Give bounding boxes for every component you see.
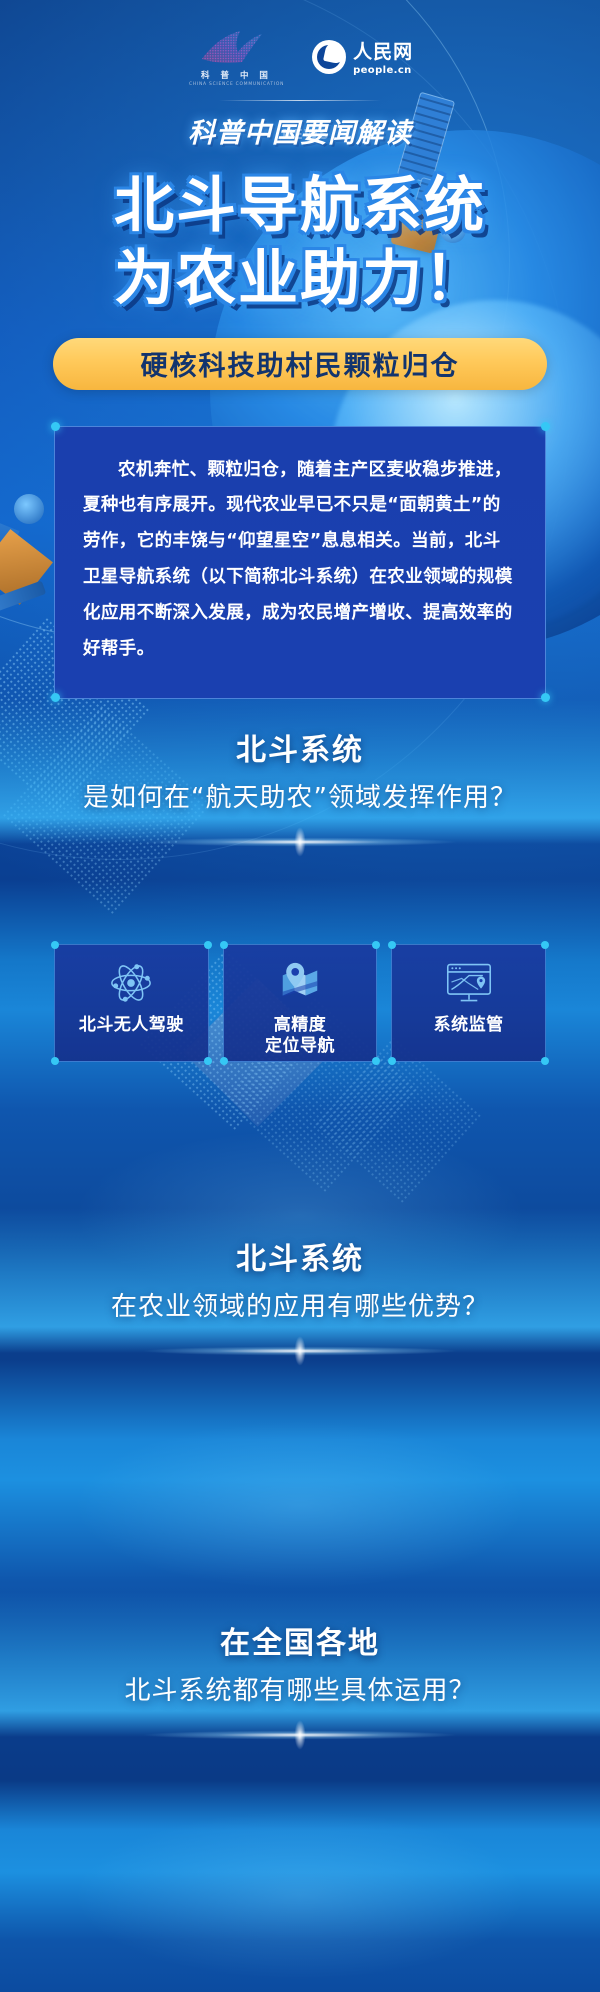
heading-flare-icon: [90, 1345, 510, 1357]
kepu-logo-en-text: CHINA SCIENCE COMMUNICATION: [189, 82, 284, 87]
hero-title-block: 北斗导航系统 为农业助力！ 硬核科技助村民颗粒归仓: [0, 174, 600, 390]
section-heading-3: 在全国各地 北斗系统都有哪些具体运用？: [0, 1592, 600, 1737]
corner-dot-icon: [541, 1057, 549, 1065]
section1-heading: 北斗系统: [0, 725, 600, 769]
section-heading-1: 北斗系统 是如何在“航天助农”领域发挥作用？: [0, 699, 600, 844]
intro-box: 农机奔忙、颗粒归仓，随着主产区麦收稳步推进，夏种也有序展开。现代农业早已不只是“…: [54, 426, 546, 699]
heading-flare-icon: [90, 836, 510, 848]
feature-card-beidou-autopilot[interactable]: 北斗无人驾驶: [54, 944, 209, 1062]
section3-subheading: 北斗系统都有哪些具体运用？: [0, 1670, 600, 1707]
corner-dot-icon: [204, 1057, 212, 1065]
corner-dot-icon: [388, 941, 396, 949]
intro-paragraph: 农机奔忙、颗粒归仓，随着主产区麦收稳步推进，夏种也有序展开。现代农业早已不只是“…: [83, 453, 517, 668]
section3-heading: 在全国各地: [0, 1618, 600, 1662]
section1-subheading: 是如何在“航天助农”领域发挥作用？: [0, 777, 600, 814]
people-cn-zh-text: 人民网: [353, 37, 413, 64]
feature-card-row: 北斗无人驾驶 高精度 定位导航: [54, 944, 546, 1062]
corner-dot-icon: [220, 1057, 228, 1065]
corner-dot-icon: [204, 941, 212, 949]
section-heading-2: 北斗系统 在农业领域的应用有哪些优势？: [0, 1208, 600, 1353]
monitor-map-icon: [445, 959, 493, 1007]
section2-subheading: 在农业领域的应用有哪些优势？: [0, 1286, 600, 1323]
kepu-china-logo: 科 普 中 国 CHINA SCIENCE COMMUNICATION: [187, 26, 286, 87]
corner-dot-icon: [220, 941, 228, 949]
header-divider: [219, 100, 381, 101]
atom-icon: [108, 959, 154, 1007]
kepu-logo-cn-text: 科 普 中 国: [201, 69, 272, 81]
people-cn-logo: 人民网 people.cn: [312, 37, 413, 76]
feature-card-high-precision-nav[interactable]: 高精度 定位导航: [223, 944, 378, 1062]
corner-dot-icon: [51, 1057, 59, 1065]
news-watermark: NEWS: [282, 128, 329, 143]
feature-card-label: 高精度: [274, 1015, 327, 1035]
feature-card-label-2: 定位导航: [265, 1036, 335, 1056]
feature-card-label: 系统监管: [434, 1015, 504, 1035]
corner-dot-icon: [541, 422, 550, 431]
feature-card-system-supervision[interactable]: 系统监管: [391, 944, 546, 1062]
section2-heading: 北斗系统: [0, 1234, 600, 1278]
corner-dot-icon: [51, 941, 59, 949]
subtitle-pill: 硬核科技助村民颗粒归仓: [53, 338, 547, 390]
kepu-wing-icon: [196, 26, 276, 66]
heading-flare-icon: [90, 1729, 510, 1741]
logo-row: 科 普 中 国 CHINA SCIENCE COMMUNICATION 人民网 …: [0, 26, 600, 87]
people-cn-en-text: people.cn: [353, 65, 413, 76]
corner-dot-icon: [541, 941, 549, 949]
page-title-line1: 北斗导航系统: [0, 174, 600, 239]
corner-dot-icon: [51, 422, 60, 431]
feature-card-label: 北斗无人驾驶: [79, 1015, 184, 1035]
map-pin-icon: [277, 959, 323, 1007]
corner-dot-icon: [372, 941, 380, 949]
people-cn-mark-icon: [312, 40, 346, 74]
page-title-line2: 为农业助力！: [0, 247, 600, 312]
page-header: 科 普 中 国 CHINA SCIENCE COMMUNICATION 人民网 …: [0, 0, 600, 150]
